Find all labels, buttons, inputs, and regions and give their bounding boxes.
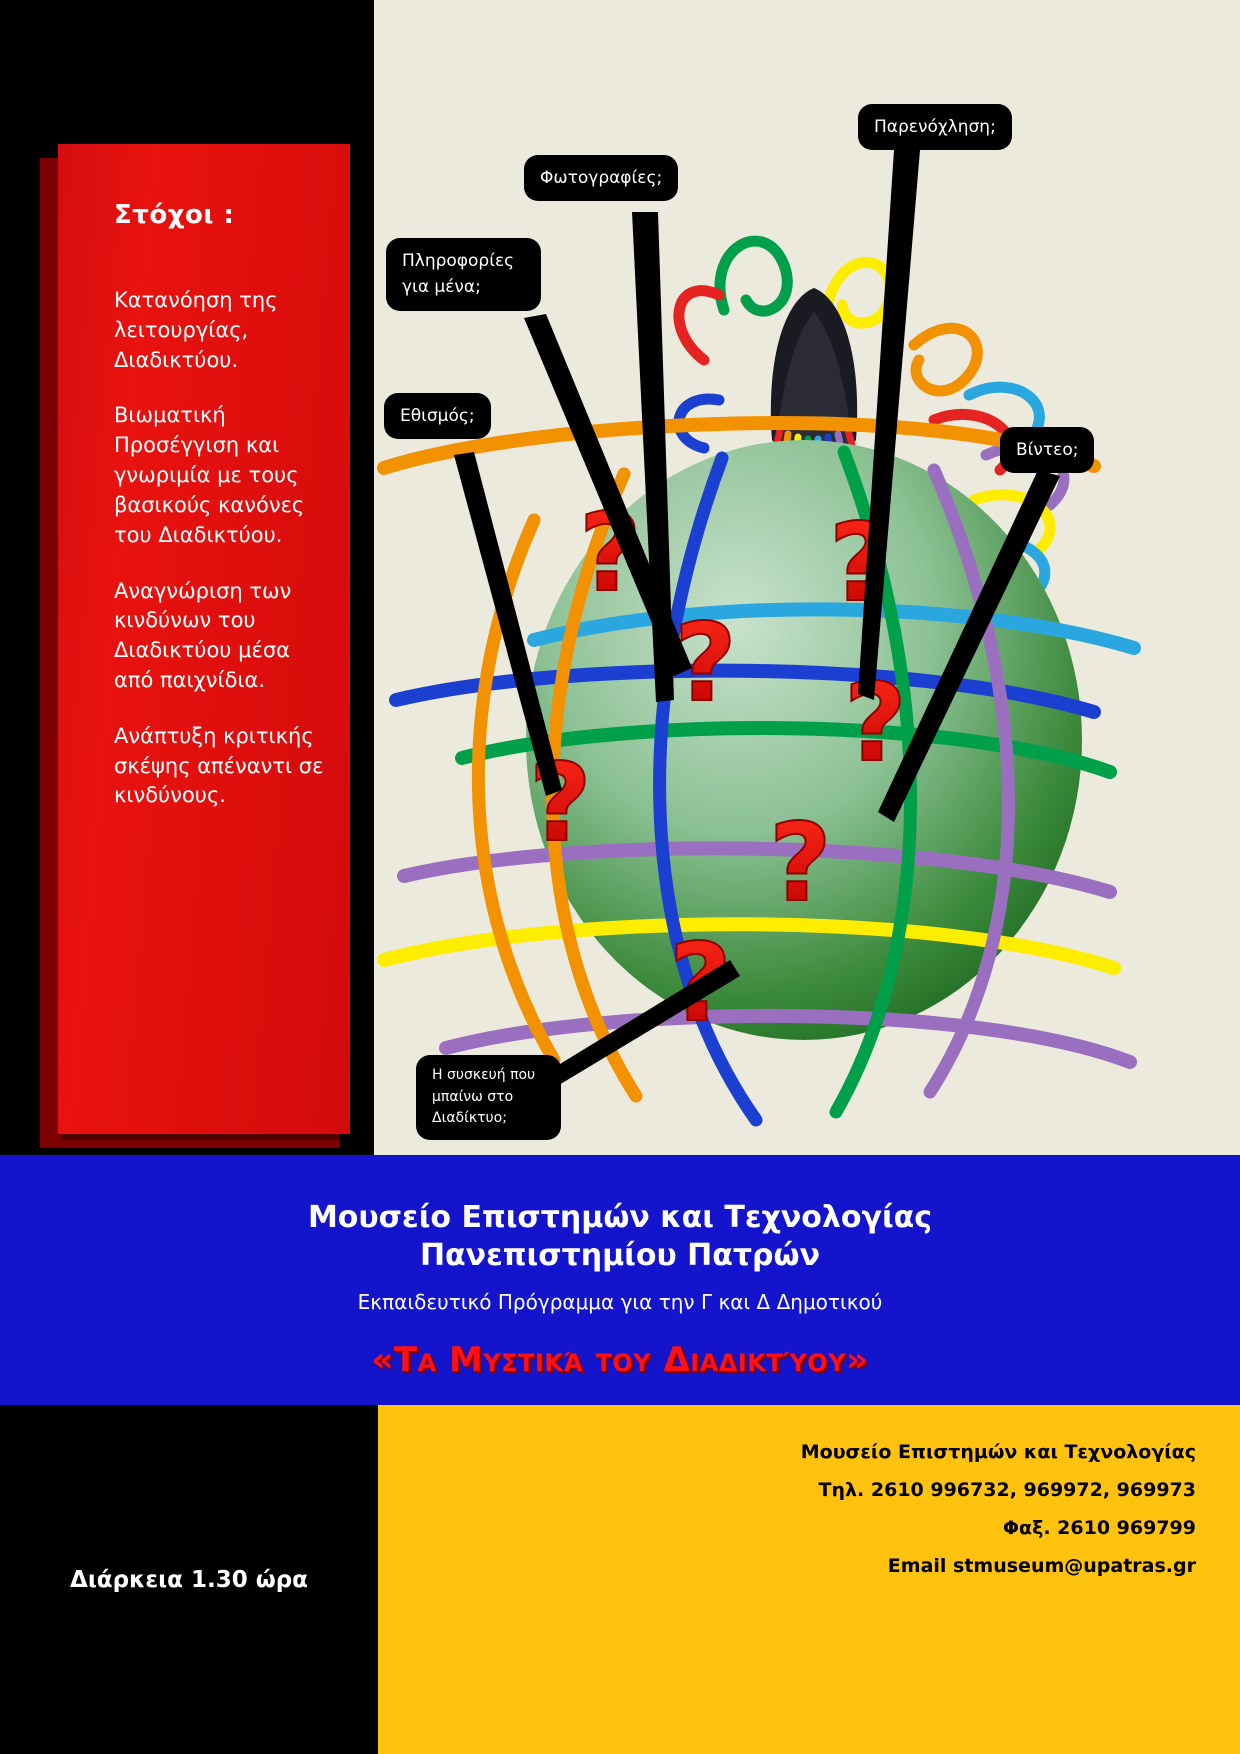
objectives-heading: Στόχοι : bbox=[114, 200, 324, 230]
bubble-info-about-me[interactable]: Πληροφορίες για μένα; bbox=[386, 238, 541, 311]
bubble-device[interactable]: Η συσκευή που μπαίνω στο Διαδίκτυο; bbox=[416, 1055, 561, 1140]
footer-blue-band: Μουσείο Επιστημών και Τεχνολογίας Πανεπι… bbox=[0, 1155, 1240, 1405]
contact-line-2: Τηλ. 2610 996732, 969972, 969973 bbox=[378, 1471, 1196, 1509]
organization-line-1: Μουσείο Επιστημών και Τεχνολογίας bbox=[0, 1199, 1240, 1237]
contact-box: Μουσείο Επιστημών και Τεχνολογίας Τηλ. 2… bbox=[378, 1405, 1240, 1754]
bubble-photos[interactable]: Φωτογραφίες; bbox=[524, 155, 678, 201]
program-subtitle: Εκπαιδευτικό Πρόγραμμα για την Γ και Δ Δ… bbox=[0, 1290, 1240, 1314]
question-mark: ? bbox=[769, 801, 832, 926]
contact-line-3: Φαξ. 2610 969799 bbox=[378, 1509, 1196, 1547]
duration-box: Διάρκεια 1.30 ώρα bbox=[0, 1405, 378, 1754]
bubble-addiction[interactable]: Εθισμός; bbox=[384, 393, 491, 439]
objective-item-3: Αναγνώριση των κινδύνων του Διαδικτύου μ… bbox=[114, 577, 324, 696]
organization-line-2: Πανεπιστημίου Πατρών bbox=[0, 1237, 1240, 1275]
objective-item-4: Ανάπτυξη κριτικής σκέψης απέναντι σε κιν… bbox=[114, 722, 324, 811]
bubble-video[interactable]: Βίντεο; bbox=[1000, 427, 1094, 473]
contact-line-1: Μουσείο Επιστημών και Τεχνολογίας bbox=[378, 1433, 1196, 1471]
bubble-harassment[interactable]: Παρενόχληση; bbox=[858, 104, 1012, 150]
contact-line-4[interactable]: Email stmuseum@upatras.gr bbox=[378, 1547, 1196, 1585]
globe-illustration: ? ? ? ? ? ? ? bbox=[374, 0, 1240, 1155]
objectives-panel: Στόχοι : Κατανόηση της λειτουργίας, Διαδ… bbox=[58, 144, 350, 1134]
poster-root: ? ? ? ? ? ? ? bbox=[0, 0, 1240, 1754]
illustration-panel: ? ? ? ? ? ? ? bbox=[374, 0, 1240, 1155]
program-title: «Τα Μυστικά του Διαδικτύου» bbox=[0, 1340, 1240, 1380]
duration-text: Διάρκεια 1.30 ώρα bbox=[70, 1567, 308, 1593]
objective-item-2: Βιωματική Προσέγγιση και γνωριμία με του… bbox=[114, 401, 324, 550]
objective-item-1: Κατανόηση της λειτουργίας, Διαδικτύου. bbox=[114, 286, 324, 375]
